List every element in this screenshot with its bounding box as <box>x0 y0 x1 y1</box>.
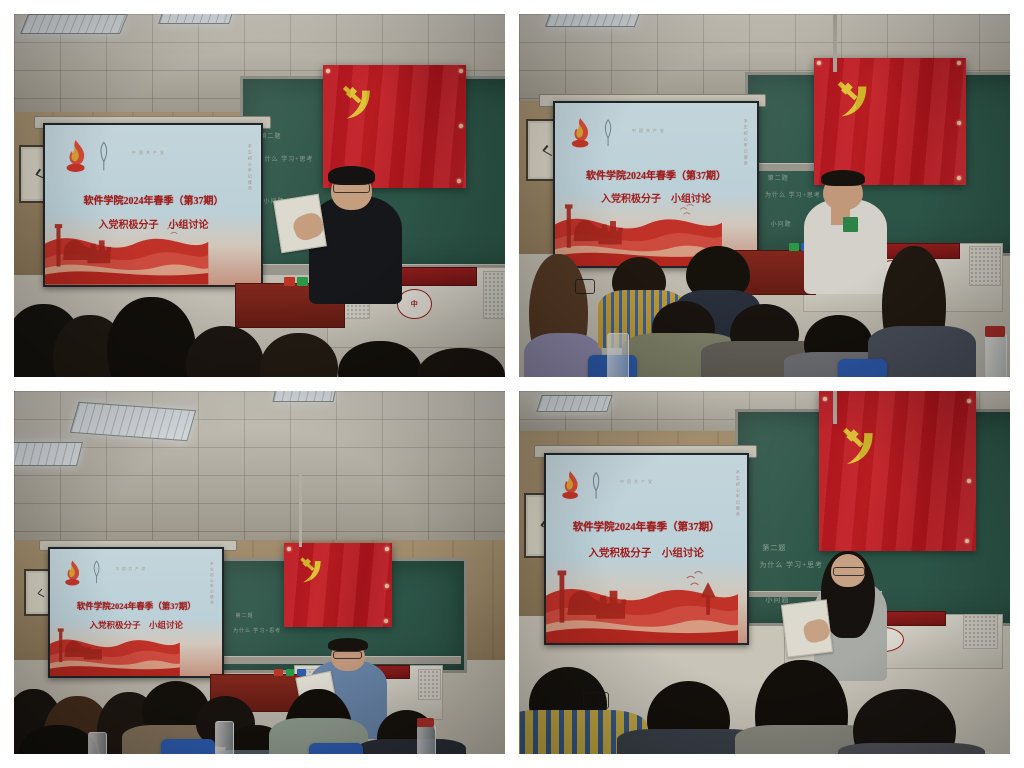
presentation-slide: 中国共产党 软件学院2024年春季（第37期） 入党积极分子 小组讨论 不忘初心… <box>546 455 747 644</box>
slide-title: 软件学院2024年春季（第37期） <box>61 600 212 612</box>
marker-pen <box>286 669 295 676</box>
slide-subtitle: 入党积极分子 小组讨论 <box>61 619 212 631</box>
slide-red-wave-graphic <box>546 557 739 644</box>
projection-screen: 中国共产党 软件学院2024年春季（第37期） 入党积极分子 小组讨论 不忘初心… <box>48 547 224 678</box>
presentation-slide: 中国共产党 软件学院2024年春季（第37期） 入党积极分子 小组讨论 不忘初心… <box>555 103 756 266</box>
torch-flame-logo <box>54 136 97 178</box>
water-bottle <box>417 725 436 754</box>
slide-faint-header: 中国共产党 <box>620 479 655 485</box>
slide-side-column-text: 不忘初心牢记使命 <box>743 119 749 167</box>
ceiling-light <box>545 14 641 27</box>
slide-faint-header: 中国共产党 <box>116 567 149 572</box>
glasses-icon <box>333 183 369 193</box>
ceiling-light <box>536 395 612 412</box>
water-bottle <box>215 721 234 754</box>
projection-screen: 中国共产党 软件学院2024年春季（第37期） 入党积极分子 小组讨论 不忘初心… <box>553 101 758 268</box>
projector-mount <box>299 474 302 547</box>
marker-pen <box>297 277 308 286</box>
glasses-icon <box>833 567 864 576</box>
photo-panel-bottom-right: 第二题 为什么 学习+思考 小问题 <box>519 391 1010 754</box>
slide-subtitle: 入党积极分子 小组讨论 <box>567 190 744 205</box>
hammer-and-sickle-icon <box>332 77 380 131</box>
ceiling-light <box>20 14 128 34</box>
ceiling-light <box>159 14 235 23</box>
slide-side-column-text: 不忘初心牢记使命 <box>210 562 215 606</box>
slide-title: 软件学院2024年春季（第37期） <box>567 167 744 182</box>
cpc-party-flag <box>819 391 976 551</box>
cpc-party-flag <box>284 543 392 626</box>
slide-ribbon-icon <box>586 462 606 509</box>
water-bottle <box>88 732 107 754</box>
ceiling-light <box>273 391 337 402</box>
marker-pen <box>789 243 799 251</box>
chalkboard-writing: 为什么 学习+思考 <box>258 156 314 165</box>
slide-side-column-text: 不忘初心牢记使命 <box>735 470 741 518</box>
slide-subtitle: 入党积极分子 小组讨论 <box>558 545 735 560</box>
marker-pen <box>297 669 306 676</box>
hammer-and-sickle-icon <box>292 553 329 590</box>
slide-ribbon-icon <box>598 111 618 155</box>
projection-screen: 中国共产党 软件学院2024年春季（第37期） 入党积极分子 小组讨论 不忘初心… <box>43 123 263 287</box>
glasses-icon <box>575 279 594 294</box>
chalkboard-writing: 为什么 学习+思考 <box>759 560 823 571</box>
torch-flame-logo <box>56 557 89 590</box>
chalkboard-writing: 为什么 学习+思考 <box>765 192 821 201</box>
torch-flame-logo <box>552 464 588 507</box>
photo-panel-top-left: 第二题 为什么 学习+思考 小问题 <box>14 14 505 377</box>
glasses-icon <box>583 692 610 709</box>
cpc-party-flag <box>814 58 966 185</box>
marker-pen <box>274 669 283 676</box>
marker-pen <box>284 277 295 286</box>
photo-panel-top-right: 第二题 为什么 学习+思考 小问题 <box>519 14 1010 377</box>
slide-title: 软件学院2024年春季（第37期） <box>558 519 735 534</box>
presentation-slide: 中国共产党 软件学院2024年春季（第37期） 入党积极分子 小组讨论 不忘初心… <box>45 125 261 285</box>
slide-ribbon-icon <box>93 134 115 179</box>
projection-screen: 中国共产党 软件学院2024年春季（第37期） 入党积极分子 小组讨论 不忘初心… <box>544 453 749 646</box>
slide-subtitle: 入党积极分子 小组讨论 <box>58 216 248 231</box>
chalkboard-writing: 第二题 <box>261 133 282 142</box>
glasses-icon <box>333 651 362 660</box>
chalkboard-writing: 第二题 <box>768 175 789 184</box>
water-bottle <box>607 333 629 377</box>
torch-flame-logo <box>561 113 599 154</box>
presentation-slide: 中国共产党 软件学院2024年春季（第37期） 入党积极分子 小组讨论 不忘初心… <box>50 549 222 676</box>
emblem-char: 中 <box>411 299 418 309</box>
university-emblem: 中 <box>397 289 432 318</box>
projector-mount <box>833 391 836 424</box>
slide-title: 软件学院2024年春季（第37期） <box>58 192 248 207</box>
chalkboard-writing: 第二题 <box>235 613 253 621</box>
ceiling-light <box>14 442 83 466</box>
slide-faint-header: 中国共产党 <box>632 128 667 134</box>
hammer-and-sickle-icon <box>826 73 878 129</box>
hammer-and-sickle-icon <box>831 413 884 483</box>
slide-faint-header: 中国共产党 <box>132 150 167 156</box>
slide-side-column-text: 不忘初心牢记使命 <box>247 144 253 192</box>
chalkboard-writing: 小问题 <box>771 221 792 230</box>
chalkboard-writing: 第二题 <box>762 543 786 554</box>
water-bottle <box>985 333 1007 377</box>
chalkboard-writing: 为什么 学习+思考 <box>233 628 281 636</box>
projector-mount <box>833 14 836 72</box>
slide-ribbon-icon <box>88 555 105 589</box>
photo-panel-bottom-left: 第二题 为什么 学习+思考 <box>14 391 505 754</box>
photo-collage: 第二题 为什么 学习+思考 小问题 <box>0 0 1024 768</box>
